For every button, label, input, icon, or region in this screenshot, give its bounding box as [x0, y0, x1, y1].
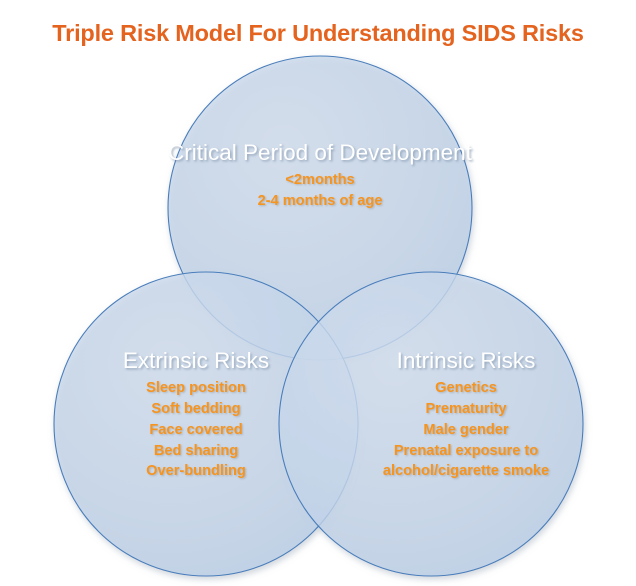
venn-diagram: Critical Period of Development <2months …	[0, 0, 636, 586]
venn-svg	[0, 0, 636, 586]
venn-circle-intrinsic-risks	[279, 272, 583, 576]
